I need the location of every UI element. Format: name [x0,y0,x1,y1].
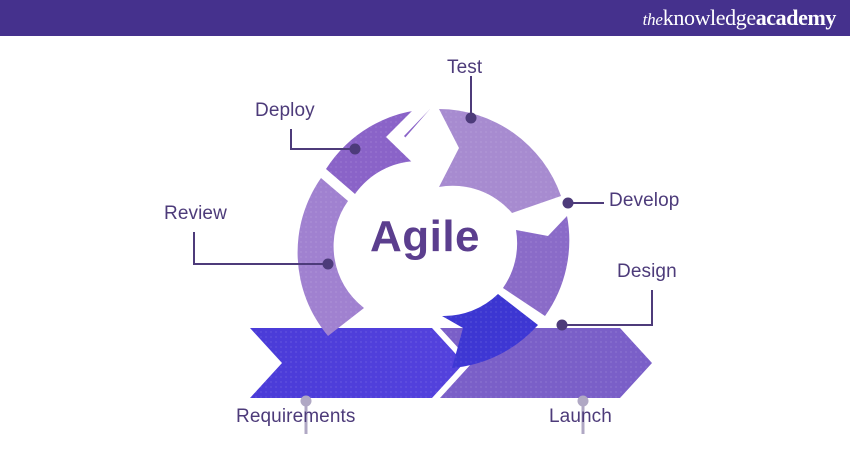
connector-develop [563,198,605,209]
brand-logo: theknowledgeacademy [643,7,836,29]
banner-arrow-requirements [250,328,464,398]
connector-design [557,290,653,331]
label-design: Design [617,261,677,283]
agile-lifecycle-infographic: theknowledgeacademy [0,0,850,450]
label-review: Review [164,203,227,225]
center-title: Agile [0,212,850,262]
label-test: Test [447,57,482,79]
logo-word-knowledge: knowledge [663,5,756,30]
logo-word-the: the [643,10,663,29]
logo-word-academy: academy [756,5,836,30]
label-requirements: Requirements [236,406,355,428]
label-develop: Develop [609,190,679,212]
header-bar: theknowledgeacademy [0,0,850,36]
connector-test [466,76,477,124]
ring-segment-test [439,109,561,213]
label-launch: Launch [549,406,612,428]
label-deploy: Deploy [255,100,315,122]
